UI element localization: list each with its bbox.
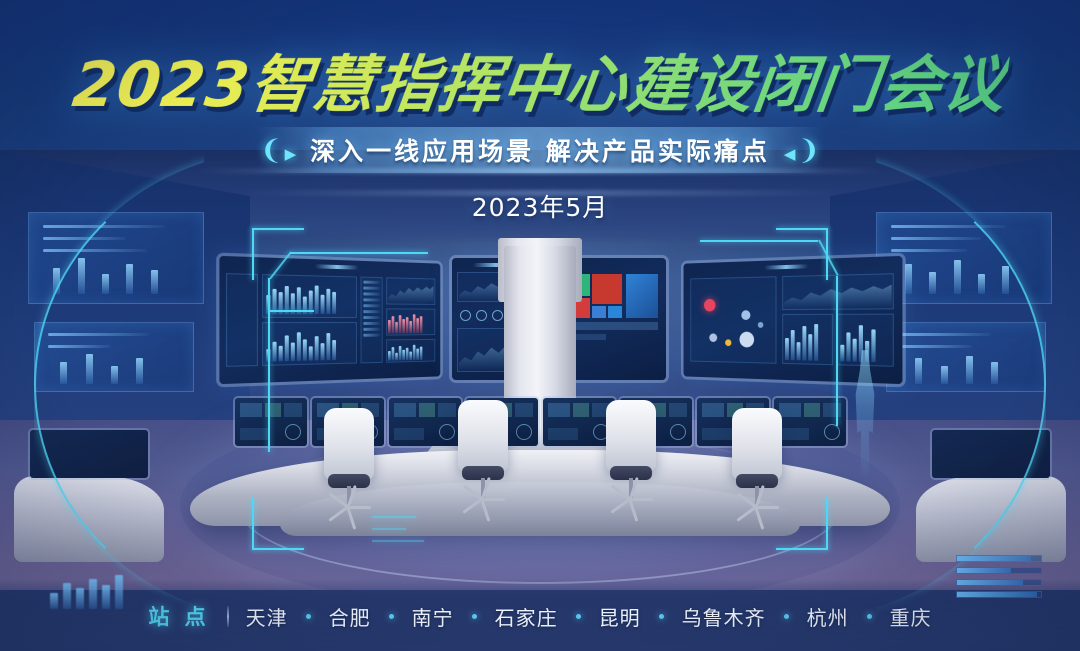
chair: [318, 408, 380, 526]
bar-chart-pink: [388, 314, 422, 333]
chair: [726, 408, 788, 526]
poster-date-wrap: 2023年5月: [0, 188, 1080, 224]
poster-subtitle-wrap: ❨▶ 深入一线应用场景 解决产品实际痛点 ◀❩: [0, 127, 1080, 173]
bar-chart: [266, 283, 336, 314]
sites-label: 站 点: [148, 601, 209, 631]
wall-left-screen-1: [28, 212, 204, 304]
dot-separator-icon: [306, 614, 311, 619]
chair: [600, 400, 662, 518]
bar-chart: [785, 322, 818, 361]
console-monitor: [235, 398, 307, 446]
video-wall-left: [219, 256, 440, 384]
triangle-right-icon: ▶: [285, 146, 297, 163]
dot-separator-icon: [659, 614, 664, 619]
bubble-chart: [690, 276, 776, 364]
bar-chart: [388, 345, 422, 361]
stat-rows: [363, 281, 380, 340]
dot-separator-icon: [784, 614, 789, 619]
console-monitor: [389, 398, 461, 446]
bracket-left-icon: ❨▶: [260, 137, 298, 164]
dot-separator-icon: [472, 614, 477, 619]
decor-progress-rows-icon: [956, 555, 1042, 603]
site-city-7[interactable]: 重庆: [890, 602, 932, 631]
video-wall-left-title: [315, 264, 359, 269]
dot-separator-icon: [867, 614, 872, 619]
triangle-left-icon: ◀: [784, 146, 796, 163]
decor-bar-chart-icon: [50, 575, 123, 609]
site-city-1[interactable]: 合肥: [329, 602, 371, 631]
bracket-right-icon: ◀❩: [782, 137, 820, 164]
site-city-2[interactable]: 南宁: [412, 602, 454, 631]
panel: [226, 273, 258, 367]
poster-title: 2023智慧指挥中心建设闭门会议: [68, 34, 1012, 124]
sites-list: 站 点 天津 合肥 南宁 石家庄 昆明 乌鲁木齐 杭州 重庆: [0, 601, 1080, 631]
video-wall-right: [684, 256, 903, 384]
site-city-5[interactable]: 乌鲁木齐: [682, 602, 766, 631]
side-pod-right-screen: [932, 430, 1050, 478]
dot-separator-icon: [389, 614, 394, 619]
poster-title-wrap: 2023智慧指挥中心建设闭门会议: [0, 34, 1080, 124]
poster-footer: 站 点 天津 合肥 南宁 石家庄 昆明 乌鲁木齐 杭州 重庆: [0, 579, 1080, 651]
dot-separator-icon: [576, 614, 581, 619]
chair: [452, 400, 514, 518]
site-city-3[interactable]: 石家庄: [495, 602, 558, 631]
site-city-0[interactable]: 天津: [246, 602, 288, 631]
side-pod-left-screen: [30, 430, 148, 478]
sites-divider: [227, 606, 229, 627]
side-pod-right: [916, 476, 1066, 562]
poster-root: 2023智慧指挥中心建设闭门会议 ❨▶ 深入一线应用场景 解决产品实际痛点 ◀❩…: [0, 0, 1080, 651]
poster-date: 2023年5月: [472, 193, 609, 222]
bar-chart: [840, 322, 875, 362]
side-pod-left: [14, 476, 164, 562]
video-wall-right-title: [764, 264, 808, 269]
bar-chart: [266, 330, 336, 362]
site-city-6[interactable]: 杭州: [807, 602, 849, 631]
wall-right-screen-2: [886, 322, 1046, 392]
poster-subtitle: 深入一线应用场景 解决产品实际痛点: [310, 132, 770, 168]
site-city-4[interactable]: 昆明: [599, 602, 641, 631]
wall-left-screen-2: [34, 322, 194, 392]
poster-subtitle-band: ❨▶ 深入一线应用场景 解决产品实际痛点 ◀❩: [256, 127, 824, 173]
